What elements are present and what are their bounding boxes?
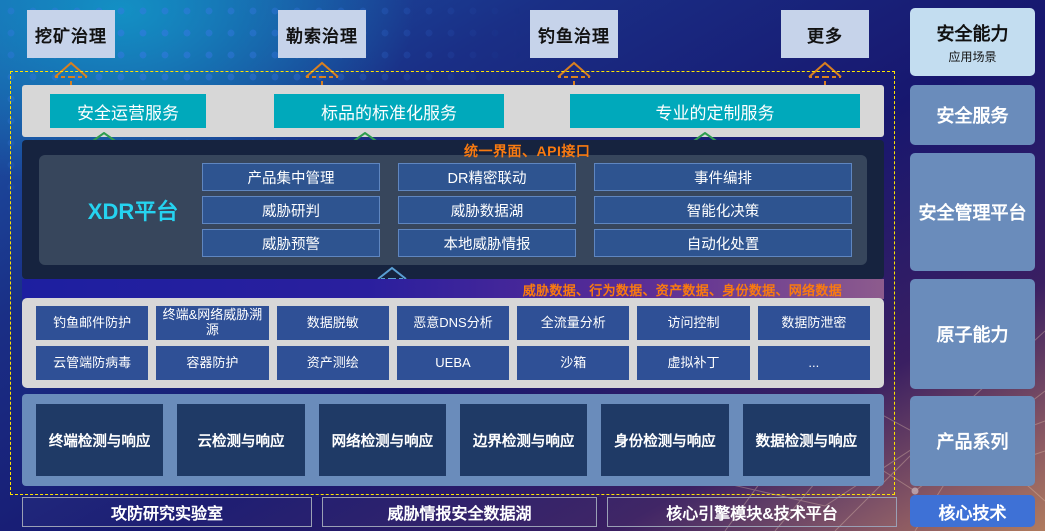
data-types-bar: 威胁数据、行为数据、资产数据、身份数据、网络数据 [22, 279, 884, 299]
product-series-grid: 终端检测与响应 云检测与响应 网络检测与响应 边界检测与响应 身份检测与响应 数… [36, 404, 870, 476]
scenario-chip-label: 勒索治理 [286, 22, 358, 47]
product-series-item[interactable]: 身份检测与响应 [601, 404, 728, 476]
atomic-capability-item[interactable]: 虚拟补丁 [637, 346, 749, 380]
sidebar-item-label: 原子能力 [937, 321, 1009, 347]
atomic-capability-item[interactable]: 钓鱼邮件防护 [36, 306, 148, 340]
product-series-item[interactable]: 云检测与响应 [177, 404, 304, 476]
security-services-panel: 安全运营服务 标品的标准化服务 专业的定制服务 [22, 85, 884, 137]
sidebar-item-label: 安全能力 [937, 20, 1009, 46]
atomic-capabilities-panel: 钓鱼邮件防护 终端&网络威胁溯源 数据脱敏 恶意DNS分析 全流量分析 访问控制… [22, 298, 884, 388]
xdr-inner-panel: XDR平台 产品集中管理 威胁研判 威胁预警 DR精密联动 威胁数据湖 本地威胁… [39, 155, 867, 265]
atomic-capability-item[interactable]: ... [758, 346, 870, 380]
atomic-capability-item[interactable]: 访问控制 [637, 306, 749, 340]
service-item-custom[interactable]: 专业的定制服务 [570, 94, 860, 128]
xdr-cell[interactable]: 本地威胁情报 [398, 229, 576, 257]
atomic-capability-item[interactable]: 容器防护 [156, 346, 268, 380]
sidebar-item-label: 安全服务 [937, 102, 1009, 128]
footer-item-lab[interactable]: 攻防研究实验室 [22, 497, 312, 527]
sidebar-item-core-technology[interactable]: 核心技术 [910, 495, 1035, 527]
xdr-cell[interactable]: 自动化处置 [594, 229, 852, 257]
xdr-cell[interactable]: 威胁研判 [202, 196, 380, 224]
atomic-capability-item[interactable]: 全流量分析 [517, 306, 629, 340]
xdr-platform-panel: XDR平台 产品集中管理 威胁研判 威胁预警 DR精密联动 威胁数据湖 本地威胁… [22, 140, 884, 279]
sidebar-item-management-platform[interactable]: 安全管理平台 [910, 153, 1035, 271]
atomic-capability-item[interactable]: 数据防泄密 [758, 306, 870, 340]
product-series-item[interactable]: 边界检测与响应 [460, 404, 587, 476]
scenario-chip-more[interactable]: 更多 [781, 10, 869, 58]
scenario-chip-ransom[interactable]: 勒索治理 [278, 10, 366, 58]
service-label: 标品的标准化服务 [321, 99, 457, 124]
xdr-cell[interactable]: 威胁预警 [202, 229, 380, 257]
service-label: 安全运营服务 [77, 99, 179, 124]
sidebar-item-label: 产品系列 [937, 428, 1009, 454]
footer-item-engine[interactable]: 核心引擎模块&技术平台 [607, 497, 897, 527]
atomic-capabilities-grid: 钓鱼邮件防护 终端&网络威胁溯源 数据脱敏 恶意DNS分析 全流量分析 访问控制… [36, 306, 870, 380]
product-series-panel: 终端检测与响应 云检测与响应 网络检测与响应 边界检测与响应 身份检测与响应 数… [22, 394, 884, 486]
atomic-capability-item[interactable]: 终端&网络威胁溯源 [156, 306, 268, 340]
atomic-capability-item[interactable]: 云管端防病毒 [36, 346, 148, 380]
xdr-cell[interactable]: 事件编排 [594, 163, 852, 191]
xdr-cell[interactable]: 智能化决策 [594, 196, 852, 224]
sidebar-item-sublabel: 应用场景 [948, 48, 996, 65]
service-label: 专业的定制服务 [656, 99, 775, 124]
product-series-item[interactable]: 数据检测与响应 [743, 404, 870, 476]
xdr-cell[interactable]: 产品集中管理 [202, 163, 380, 191]
footer-label: 威胁情报安全数据湖 [387, 500, 531, 524]
atomic-capability-item[interactable]: 资产测绘 [277, 346, 389, 380]
sidebar-item-atomic-capability[interactable]: 原子能力 [910, 279, 1035, 389]
atomic-capability-item[interactable]: 恶意DNS分析 [397, 306, 509, 340]
xdr-column-1: 产品集中管理 威胁研判 威胁预警 [202, 163, 380, 262]
sidebar-item-label: 核心技术 [939, 499, 1007, 524]
atomic-capability-item[interactable]: 沙箱 [517, 346, 629, 380]
scenario-chip-label: 更多 [807, 22, 843, 47]
product-series-item[interactable]: 终端检测与响应 [36, 404, 163, 476]
sidebar-item-label: 安全管理平台 [919, 199, 1027, 225]
atomic-capability-item[interactable]: UEBA [397, 346, 509, 380]
sidebar-item-security-capability[interactable]: 安全能力 应用场景 [910, 8, 1035, 76]
scenario-chip-label: 挖矿治理 [35, 22, 107, 47]
xdr-column-3: 事件编排 智能化决策 自动化处置 [594, 163, 852, 262]
sidebar-item-product-series[interactable]: 产品系列 [910, 396, 1035, 486]
xdr-platform-title: XDR平台 [63, 155, 203, 265]
xdr-cell[interactable]: DR精密联动 [398, 163, 576, 191]
api-interface-label: 统一界面、API接口 [464, 141, 590, 161]
scenario-chip-mining[interactable]: 挖矿治理 [27, 10, 115, 58]
footer-label: 攻防研究实验室 [111, 500, 223, 524]
xdr-column-2: DR精密联动 威胁数据湖 本地威胁情报 [398, 163, 576, 262]
service-item-operations[interactable]: 安全运营服务 [50, 94, 206, 128]
atomic-capability-item[interactable]: 数据脱敏 [277, 306, 389, 340]
footer-label: 核心引擎模块&技术平台 [666, 500, 838, 524]
xdr-cell[interactable]: 威胁数据湖 [398, 196, 576, 224]
sidebar-item-security-service[interactable]: 安全服务 [910, 85, 1035, 145]
footer-item-datalake[interactable]: 威胁情报安全数据湖 [322, 497, 597, 527]
product-series-item[interactable]: 网络检测与响应 [319, 404, 446, 476]
data-types-label: 威胁数据、行为数据、资产数据、身份数据、网络数据 [523, 280, 842, 299]
service-item-standardized[interactable]: 标品的标准化服务 [274, 94, 504, 128]
scenario-chip-label: 钓鱼治理 [538, 22, 610, 47]
scenario-chip-phishing[interactable]: 钓鱼治理 [530, 10, 618, 58]
infographic-root: 挖矿治理 勒索治理 钓鱼治理 更多 安全运营服务 标品的标准化服务 专业的定制服… [0, 0, 1045, 531]
